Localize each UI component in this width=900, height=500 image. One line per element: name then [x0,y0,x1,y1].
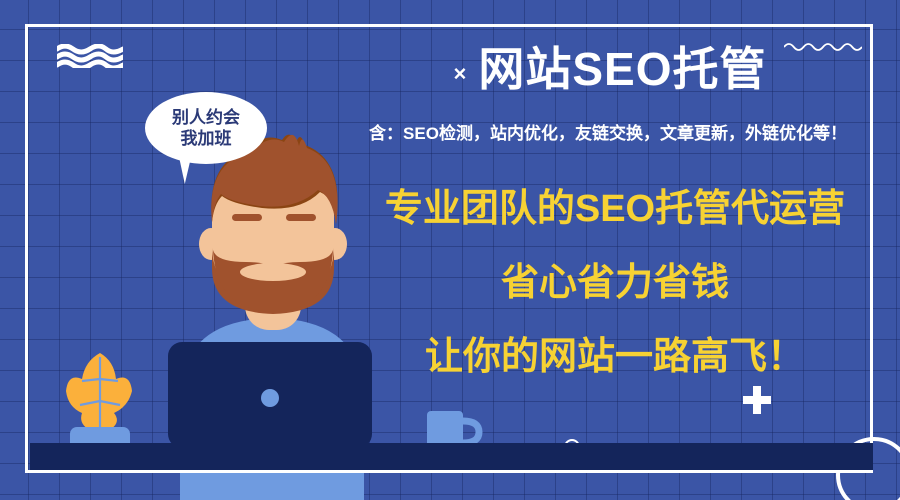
eyebrow-left [232,214,262,221]
laptop-logo-dot [261,389,279,407]
speech-bubble-line-2: 我加班 [181,128,232,149]
eyebrow-right [286,214,316,221]
plant [52,345,148,455]
seo-promo-banner: × 网站SEO托管 含：SEO检测，站内优化，友链交换，文章更新，外链优化等！ … [0,0,900,500]
desk-surface [30,443,873,471]
mug-handle [463,421,479,443]
page-title: 网站SEO托管 [478,44,766,95]
mouth-shape [240,263,306,281]
speech-bubble: 别人约会 我加班 [145,92,267,164]
laptop [160,340,380,450]
speech-bubble-line-1: 别人约会 [172,107,240,128]
desk-edge-line [28,470,873,473]
plus-icon [743,386,771,414]
